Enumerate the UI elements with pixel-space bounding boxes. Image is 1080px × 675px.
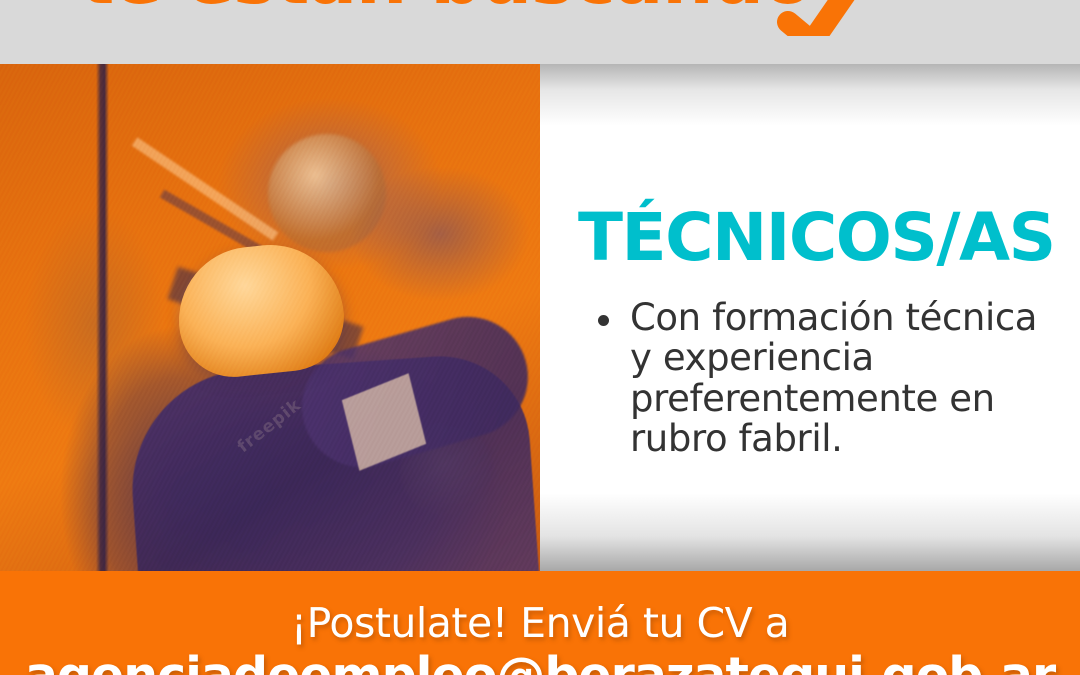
footer-cta: ¡Postulate! Enviá tu CV a agenciadeemple… [0, 571, 1080, 675]
worker-photo: freepik [0, 64, 540, 572]
banner-headline: te están buscando [80, 0, 812, 14]
panel-bottom-shadow [540, 493, 1080, 571]
panel-top-shadow [540, 64, 1080, 126]
requirement-text: Con formación técnica y experiencia pref… [630, 296, 1037, 460]
check-swoosh-icon [770, 0, 880, 36]
requirements-list: Con formación técnica y experiencia pref… [584, 298, 1054, 459]
photo-grain-overlay [0, 64, 540, 572]
list-item: Con formación técnica y experiencia pref… [584, 298, 1054, 459]
contact-email[interactable]: agenciadeempleo@berazategui.gob.ar [0, 651, 1080, 675]
content-panel: TÉCNICOS/AS Con formación técnica y expe… [540, 64, 1080, 571]
role-title: TÉCNICOS/AS [578, 205, 1055, 271]
cta-text: ¡Postulate! Enviá tu CV a [0, 603, 1080, 644]
top-banner: te están buscando [0, 0, 1080, 64]
job-posting-poster: te están buscando freepik TÉCNICOS/AS Co… [0, 0, 1080, 675]
bullet-dot-icon [598, 315, 609, 326]
